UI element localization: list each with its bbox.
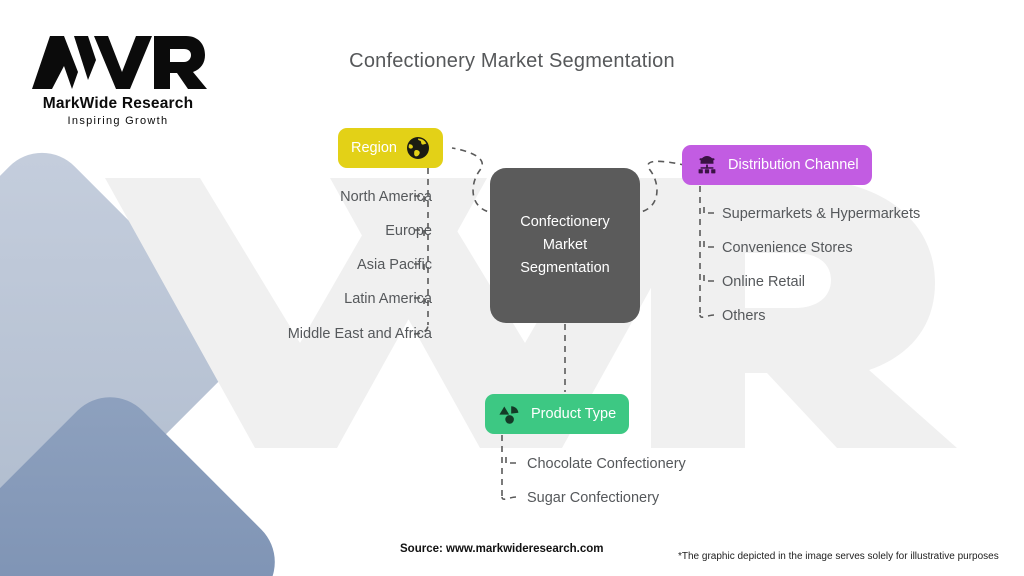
leaf-product-1: Sugar Confectionery: [527, 490, 659, 506]
infographic-canvas: MarkWide Research Inspiring Growth Confe…: [0, 0, 1024, 576]
leaf-distribution-2: Online Retail: [722, 274, 805, 290]
product-stub-0: [506, 456, 516, 463]
leaf-region-3: Latin America: [344, 291, 432, 307]
product-stub-1: [502, 497, 516, 499]
branch-label-product-type: Product Type: [531, 406, 616, 422]
leaf-distribution-1: Convenience Stores: [722, 240, 853, 256]
leaf-region-0: North America: [340, 189, 432, 205]
product-shapes-icon: [498, 402, 522, 426]
branch-label-region: Region: [351, 140, 397, 156]
leaf-region-2: Asia Pacific: [357, 257, 432, 273]
distribution-stub-0: [704, 206, 714, 213]
brand-logo: MarkWide Research Inspiring Growth: [28, 32, 208, 127]
distribution-stub-3: [700, 315, 714, 317]
globe-icon: [406, 136, 430, 160]
branch-badge-distribution-channel[interactable]: Distribution Channel: [682, 145, 872, 185]
page-title: Confectionery Market Segmentation: [0, 50, 1024, 73]
decorative-square-dark: [0, 378, 294, 576]
distribution-network-icon: [695, 153, 719, 177]
logo-tagline: Inspiring Growth: [28, 115, 208, 127]
footer-disclaimer: *The graphic depicted in the image serve…: [678, 551, 999, 562]
center-node: Confectionery Market Segmentation: [490, 168, 640, 323]
distribution-stub-1: [704, 240, 714, 247]
branch-badge-product-type[interactable]: Product Type: [485, 394, 629, 434]
distribution-stub-2: [704, 274, 714, 281]
footer-source: Source: www.markwideresearch.com: [400, 543, 603, 555]
branch-label-distribution-channel: Distribution Channel: [728, 157, 859, 173]
center-node-label: Confectionery Market Segmentation: [490, 211, 640, 280]
decorative-square-light: [0, 134, 254, 558]
leaf-distribution-3: Others: [722, 308, 766, 324]
leaf-region-4: Middle East and Africa: [288, 326, 432, 342]
branch-badge-region[interactable]: Region: [338, 128, 443, 168]
leaf-region-1: Europe: [385, 223, 432, 239]
leaf-distribution-0: Supermarkets & Hypermarkets: [722, 206, 920, 222]
leaf-product-0: Chocolate Confectionery: [527, 456, 686, 472]
logo-company-name: MarkWide Research: [28, 95, 208, 113]
